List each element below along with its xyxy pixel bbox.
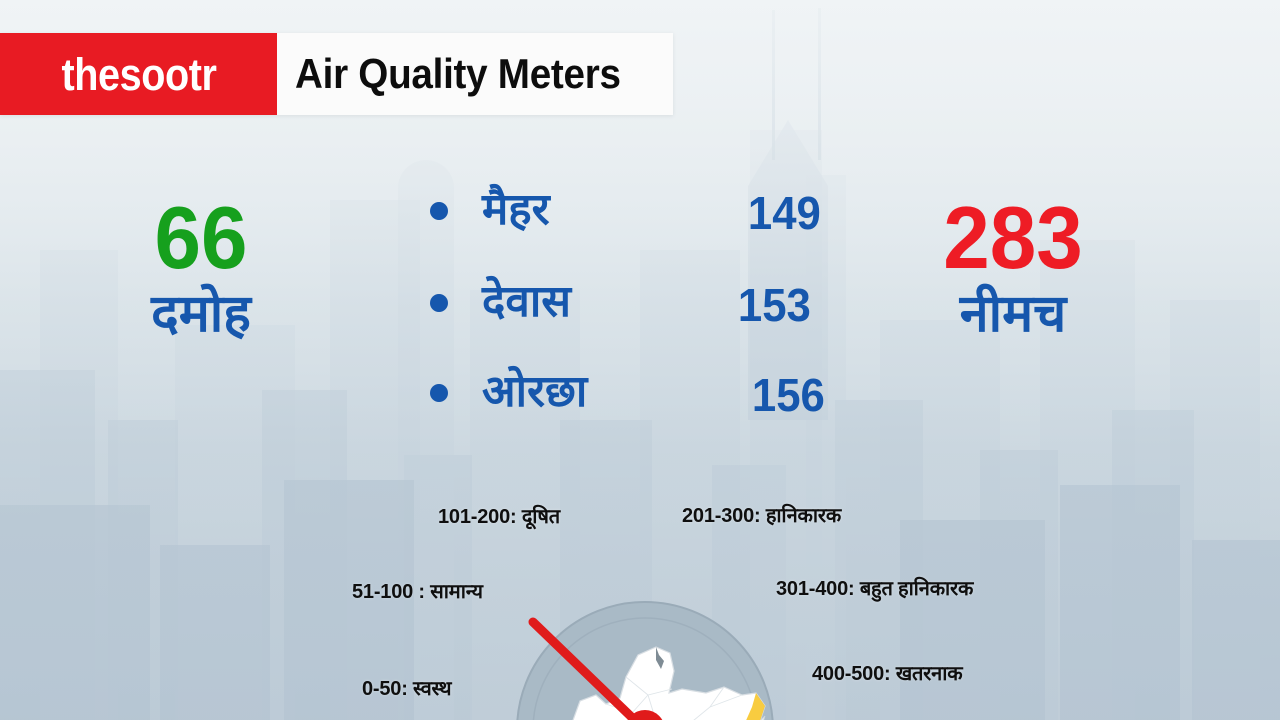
gauge-label-201-300: 201-300: हानिकारक [682,501,841,528]
list-item-city: ओरछा [482,370,587,414]
reading-card-left: 66 दमोह [96,196,306,343]
list-item: मैहर 149 [430,180,850,268]
list-item-city: देवास [482,280,571,324]
list-item-value: 153 [738,282,811,328]
bullet-icon [430,202,448,220]
reading-value-damoh: 66 [101,196,301,280]
gauge-label-0-50: 0-50: स्वस्थ [362,674,451,701]
reading-city-damoh: दमोह [96,286,306,343]
bullet-icon [430,294,448,312]
page-title: Air Quality Meters [295,50,621,98]
reading-city-neemuch: नीमच [898,286,1128,343]
page-title-container: Air Quality Meters [277,33,673,115]
gauge-label-101-200: 101-200: दूषित [438,502,560,529]
brand-logo-text: thesootr [61,52,216,97]
list-item-value: 149 [748,190,821,236]
city-aqi-list: मैहर 149 देवास 153 ओरछा 156 [430,180,850,444]
list-item: ओरछा 156 [430,356,850,444]
brand-logo[interactable]: thesootr [0,33,277,115]
bullet-icon [430,384,448,402]
infographic-canvas: thesootr Air Quality Meters 66 दमोह 283 … [0,0,1280,720]
list-item-city: मैहर [482,188,550,232]
reading-card-right: 283 नीमच [898,196,1128,343]
header-bar: thesootr Air Quality Meters [0,33,673,115]
list-item: देवास 153 [430,268,850,356]
reading-value-neemuch: 283 [904,196,1123,280]
gauge-label-400-500: 400-500: खतरनाक [812,659,962,686]
list-item-value: 156 [752,372,825,418]
gauge-label-51-100: 51-100 : सामान्य [352,577,483,604]
gauge-label-301-400: 301-400: बहुत हानिकारक [776,574,973,601]
